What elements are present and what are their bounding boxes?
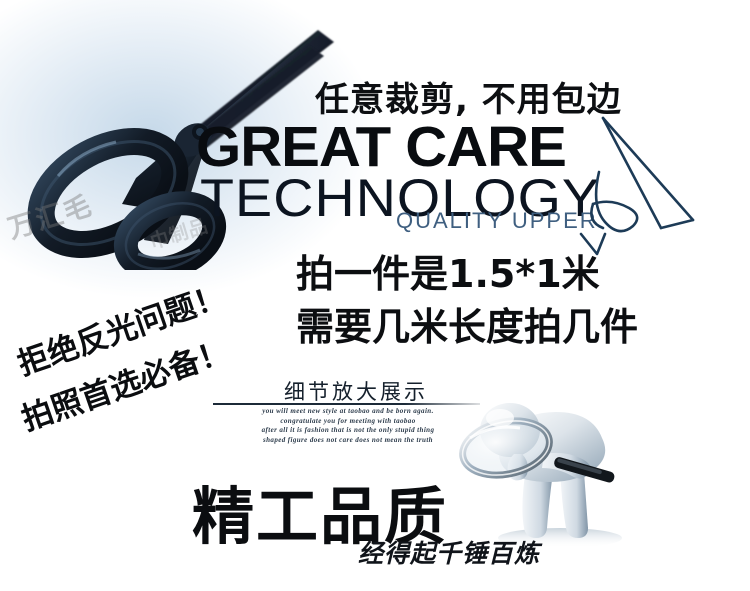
eng-line-1: you will meet new style at taobao and be… [228, 407, 468, 417]
quality-subline: 经得起千锤百炼 [358, 534, 540, 570]
hero-tagline-en: QUALITY UPPER [396, 208, 598, 234]
product-banner: 万汇毛 巾制品 任意裁剪, 不用包边 GREAT CARE TECHNOLOGY… [0, 0, 750, 591]
detail-english-paragraph: you will meet new style at taobao and be… [228, 407, 468, 445]
detail-section-title: 细节放大展示 [284, 376, 428, 406]
detail-divider [213, 403, 480, 405]
spec-line-2: 需要几米长度拍几件 [296, 296, 638, 351]
eng-line-4: shaped figure does not care does not mea… [228, 436, 468, 446]
eng-line-3: after all it is fashion that is not the … [228, 426, 468, 436]
drawn-arrow-icon [575, 108, 745, 268]
spec-line-1: 拍一件是1.5*1米 [296, 243, 600, 298]
eng-line-2: congratulate you for meeting with taobao [228, 417, 468, 427]
